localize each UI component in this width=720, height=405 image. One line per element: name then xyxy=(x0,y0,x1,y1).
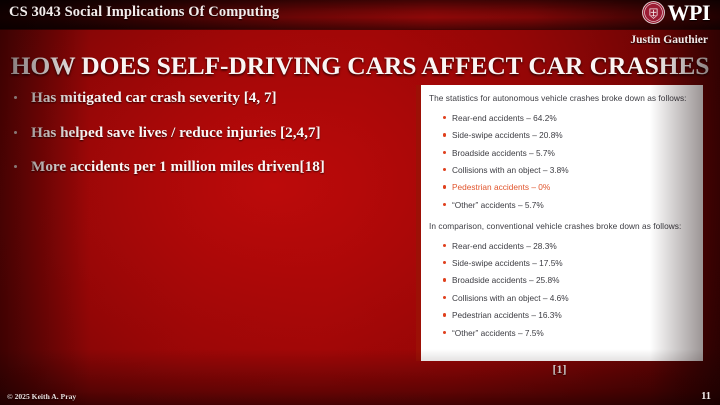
presenter-name: Justin Gauthier xyxy=(630,34,708,46)
stat-text: Pedestrian accidents – 0% xyxy=(452,182,550,192)
statistics-panel: The statistics for autonomous vehicle cr… xyxy=(416,85,703,361)
panel-paragraph-conventional: In comparison, conventional vehicle cras… xyxy=(429,220,695,234)
stat-text: Collisions with an object – 4.6% xyxy=(452,293,569,303)
list-item: Broadside accidents – 25.8% xyxy=(443,274,695,286)
list-item: Rear-end accidents – 28.3% xyxy=(443,240,695,252)
bullet-dot-icon xyxy=(443,331,446,334)
bullet-dot-icon xyxy=(14,131,17,134)
list-item: More accidents per 1 million miles drive… xyxy=(9,157,409,176)
wpi-seal-icon xyxy=(642,1,665,24)
footer-copyright: © 2025 Keith A. Pray xyxy=(7,392,76,401)
bullet-text: More accidents per 1 million miles drive… xyxy=(31,158,325,175)
footer-page-number: 11 xyxy=(701,391,711,402)
conventional-stats-list: Rear-end accidents – 28.3% Side-swipe ac… xyxy=(429,240,695,339)
list-item: Rear-end accidents – 64.2% xyxy=(443,112,695,124)
bullet-dot-icon xyxy=(443,185,446,188)
bullet-dot-icon xyxy=(443,244,446,247)
autonomous-stats-list: Rear-end accidents – 64.2% Side-swipe ac… xyxy=(429,112,695,211)
list-item: Has mitigated car crash severity [4, 7] xyxy=(9,88,409,107)
slide-bullet-list: Has mitigated car crash severity [4, 7] … xyxy=(9,88,409,192)
stat-text: Rear-end accidents – 28.3% xyxy=(452,241,557,251)
bullet-dot-icon xyxy=(443,133,446,136)
bullet-text: Has helped save lives / reduce injuries … xyxy=(31,124,321,141)
bullet-dot-icon xyxy=(443,278,446,281)
bullet-dot-icon xyxy=(443,313,446,316)
course-title: CS 3043 Social Implications Of Computing xyxy=(9,4,279,21)
list-item: Side-swipe accidents – 17.5% xyxy=(443,257,695,269)
stat-text: Side-swipe accidents – 20.8% xyxy=(452,130,563,140)
bullet-dot-icon xyxy=(443,151,446,154)
list-item: Side-swipe accidents – 20.8% xyxy=(443,129,695,141)
bullet-dot-icon xyxy=(443,296,446,299)
bullet-text: Has mitigated car crash severity [4, 7] xyxy=(31,89,277,106)
bullet-dot-icon xyxy=(443,261,446,264)
wpi-wordmark: WPI xyxy=(668,2,711,24)
bullet-dot-icon xyxy=(14,96,17,99)
stat-text: Side-swipe accidents – 17.5% xyxy=(452,258,563,268)
list-item: Pedestrian accidents – 16.3% xyxy=(443,309,695,321)
bullet-dot-icon xyxy=(443,116,446,119)
bullet-dot-icon xyxy=(443,168,446,171)
stat-text: Broadside accidents – 5.7% xyxy=(452,148,555,158)
slide-canvas: CS 3043 Social Implications Of Computing… xyxy=(0,0,720,405)
slide-title: HOW DOES SELF-DRIVING CARS AFFECT CAR CR… xyxy=(0,52,720,79)
list-item: “Other” accidents – 7.5% xyxy=(443,327,695,339)
stat-text: Pedestrian accidents – 16.3% xyxy=(452,310,562,320)
stat-text: Collisions with an object – 3.8% xyxy=(452,165,569,175)
stat-text: “Other” accidents – 5.7% xyxy=(452,200,544,210)
panel-paragraph-autonomous: The statistics for autonomous vehicle cr… xyxy=(429,92,695,106)
list-item: Collisions with an object – 3.8% xyxy=(443,164,695,176)
list-item: “Other” accidents – 5.7% xyxy=(443,199,695,211)
figure-citation: [1] xyxy=(416,362,703,377)
list-item: Has helped save lives / reduce injuries … xyxy=(9,123,409,142)
stat-text: Broadside accidents – 25.8% xyxy=(452,275,559,285)
panel-content: The statistics for autonomous vehicle cr… xyxy=(421,85,703,361)
bullet-dot-icon xyxy=(14,165,17,168)
list-item: Collisions with an object – 4.6% xyxy=(443,292,695,304)
stat-text: Rear-end accidents – 64.2% xyxy=(452,113,557,123)
list-item-highlighted: Pedestrian accidents – 0% xyxy=(443,181,695,193)
wpi-logo: WPI xyxy=(642,1,711,24)
stat-text: “Other” accidents – 7.5% xyxy=(452,328,544,338)
list-item: Broadside accidents – 5.7% xyxy=(443,147,695,159)
left-vignette xyxy=(0,29,90,405)
bullet-dot-icon xyxy=(443,203,446,206)
